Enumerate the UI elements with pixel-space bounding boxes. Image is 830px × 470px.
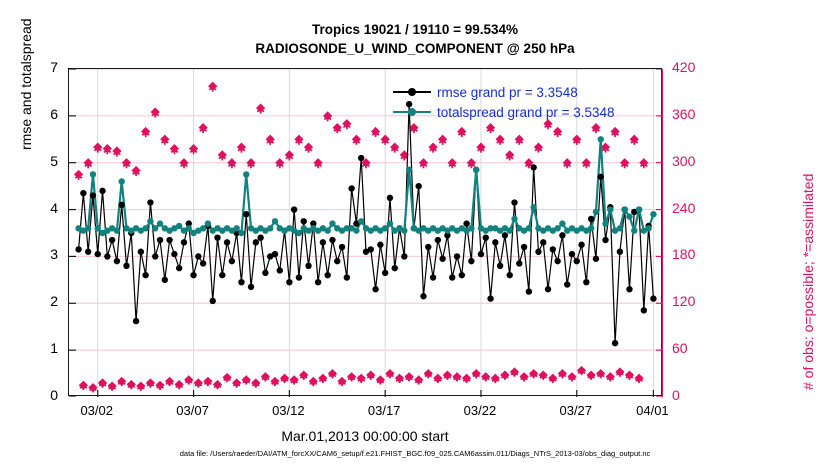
chart-canvas <box>69 69 663 397</box>
y-tick-left: 0 <box>28 387 58 403</box>
y-tick-right: 300 <box>672 153 695 169</box>
y-tick-left: 6 <box>28 106 58 122</box>
x-tick: 03/22 <box>450 403 510 418</box>
x-axis-label: Mar.01,2013 00:00:00 start <box>68 428 662 444</box>
y-tick-left: 4 <box>28 200 58 216</box>
x-tick: 03/12 <box>258 403 318 418</box>
y-tick-left: 7 <box>28 59 58 75</box>
y-tick-left: 2 <box>28 293 58 309</box>
x-tick: 03/27 <box>546 403 606 418</box>
chart-page: Tropics 19021 / 19110 = 99.534% RADIOSON… <box>0 0 830 470</box>
y-tick-right: 360 <box>672 106 695 122</box>
y-tick-left: 5 <box>28 153 58 169</box>
y-tick-left: 3 <box>28 246 58 262</box>
y-tick-right: 240 <box>672 200 695 216</box>
plot-area <box>68 68 662 396</box>
x-tick: 03/02 <box>67 403 127 418</box>
y-tick-right: 180 <box>672 246 695 262</box>
y-tick-left: 1 <box>28 340 58 356</box>
y-axis-label-right: # of obs: o=possible; *=assimilated <box>800 390 830 406</box>
chart-title-line2: RADIOSONDE_U_WIND_COMPONENT @ 250 hPa <box>0 41 830 56</box>
y-tick-right: 60 <box>672 340 688 356</box>
x-tick: 03/07 <box>163 403 223 418</box>
x-tick: 03/17 <box>354 403 414 418</box>
y-tick-right: 420 <box>672 59 695 75</box>
x-tick: 04/01 <box>622 403 682 418</box>
chart-title-line1: Tropics 19021 / 19110 = 99.534% <box>0 22 830 37</box>
series-markers-totalspread <box>75 136 656 236</box>
data-file-footer: data file: /Users/raeder/DAI/ATM_forcXX/… <box>0 449 830 458</box>
y-tick-right: 120 <box>672 293 695 309</box>
series-line-totalspread <box>79 139 654 233</box>
y-tick-right: 0 <box>672 387 680 403</box>
